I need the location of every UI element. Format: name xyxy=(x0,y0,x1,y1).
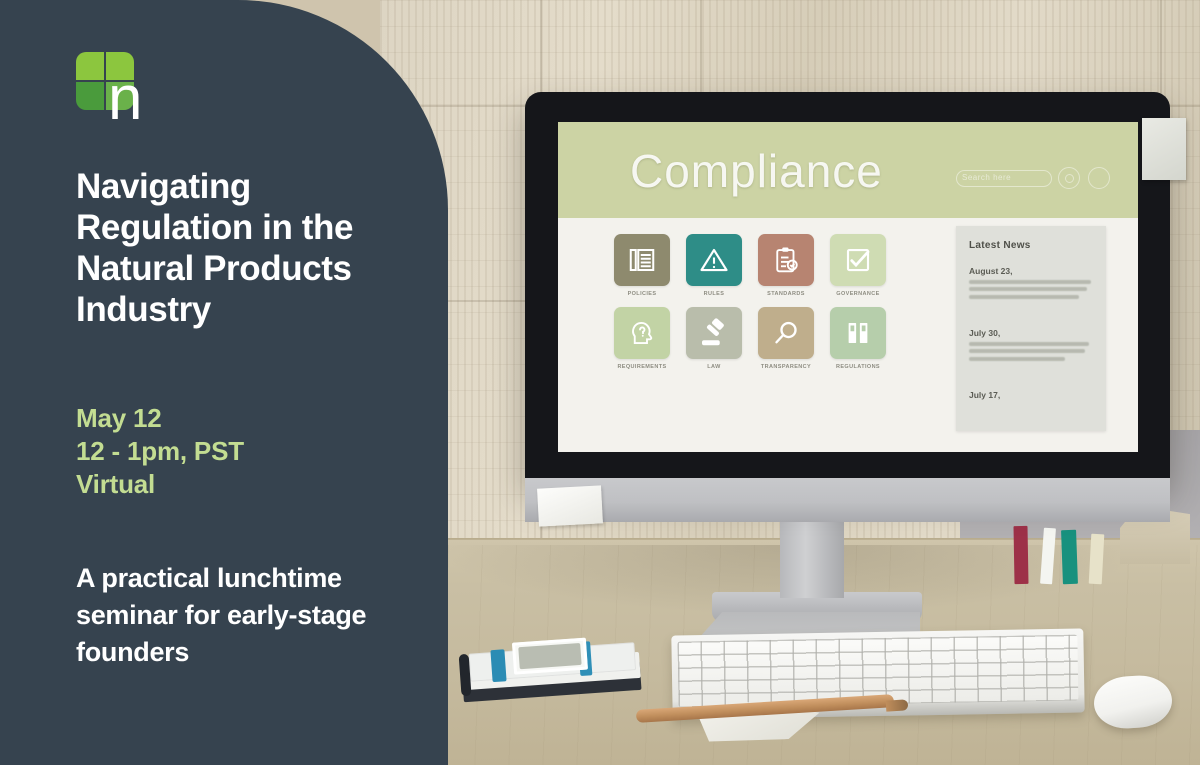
clipboard-check-icon xyxy=(771,245,801,275)
document-icon xyxy=(627,245,657,275)
leaf-icon xyxy=(76,52,104,80)
news-item[interactable]: July 17, xyxy=(969,390,1093,400)
tile-swatch xyxy=(686,234,742,286)
event-details: May 12 12 - 1pm, PST Virtual xyxy=(76,402,416,501)
news-date: August 23, xyxy=(969,266,1093,276)
tile-swatch xyxy=(686,307,742,359)
tile-governance[interactable]: GOVERNANCE xyxy=(830,234,886,297)
tile-requirements[interactable]: REQUIREMENTS xyxy=(614,307,670,370)
tile-swatch xyxy=(830,234,886,286)
tile-swatch xyxy=(758,234,814,286)
tile-regulations[interactable]: REGULATIONS xyxy=(830,307,886,370)
news-panel-title: Latest News xyxy=(969,240,1031,251)
mini-book xyxy=(1089,534,1105,585)
monitor-screen: Compliance Search here xyxy=(558,122,1138,452)
screen-title: Compliance xyxy=(630,144,883,198)
tile-label: REQUIREMENTS xyxy=(614,364,670,370)
monitor-neck xyxy=(780,520,844,598)
event-description: A practical lunchtime seminar for early-… xyxy=(76,560,436,671)
tile-label: STANDARDS xyxy=(758,291,814,297)
tile-law[interactable]: LAW xyxy=(686,307,742,370)
screen-body: POLICIES RULES xyxy=(558,218,1138,452)
tile-label: RULES xyxy=(686,291,742,297)
tile-label: REGULATIONS xyxy=(830,364,886,370)
notebook-band xyxy=(490,649,506,682)
clock-icon[interactable] xyxy=(1088,167,1110,189)
tile-label: LAW xyxy=(686,364,742,370)
compliance-tile-grid: POLICIES RULES xyxy=(614,234,934,380)
sticky-note-icon xyxy=(537,485,603,526)
brand-logo[interactable]: n xyxy=(76,52,146,118)
news-item[interactable]: July 30, xyxy=(969,328,1093,361)
mini-book xyxy=(1040,528,1056,585)
head-question-icon xyxy=(627,318,657,348)
page-title: Navigating Regulation in the Natural Pro… xyxy=(76,166,428,330)
tile-policies[interactable]: POLICIES xyxy=(614,234,670,297)
tile-row: POLICIES RULES xyxy=(614,234,934,297)
tile-swatch xyxy=(614,234,670,286)
notebook-stack xyxy=(460,630,644,712)
tile-row: REQUIREMENTS LAW xyxy=(614,307,934,370)
event-location: Virtual xyxy=(76,468,416,501)
event-date: May 12 xyxy=(76,402,416,435)
news-date: July 17, xyxy=(969,390,1093,400)
tile-rules[interactable]: RULES xyxy=(686,234,742,297)
event-poster: Compliance Search here xyxy=(0,0,1200,765)
leaf-icon xyxy=(76,82,104,110)
news-item[interactable]: August 23, xyxy=(969,266,1093,299)
screen-header: Compliance Search here xyxy=(558,122,1138,218)
magnifier-icon xyxy=(771,318,801,348)
news-date: July 30, xyxy=(969,328,1093,338)
monitor-chin xyxy=(525,478,1170,522)
tile-label: TRANSPARENCY xyxy=(758,364,814,370)
mini-book xyxy=(1061,530,1078,584)
target-icon-center xyxy=(1065,174,1074,183)
warning-triangle-icon xyxy=(699,245,729,275)
tile-label: GOVERNANCE xyxy=(830,291,886,297)
notebook-top-inner xyxy=(518,643,581,669)
tile-transparency[interactable]: TRANSPARENCY xyxy=(758,307,814,370)
tile-standards[interactable]: STANDARDS xyxy=(758,234,814,297)
news-body xyxy=(969,280,1093,299)
binders-icon xyxy=(843,318,873,348)
gavel-icon xyxy=(699,318,729,348)
latest-news-panel: Latest News August 23, July 30, xyxy=(956,226,1106,431)
mini-book xyxy=(1013,526,1028,584)
wooden-pen-tip xyxy=(886,699,909,711)
logo-letter: n xyxy=(108,68,142,130)
tile-swatch xyxy=(830,307,886,359)
event-time: 12 - 1pm, PST xyxy=(76,435,416,468)
search-placeholder: Search here xyxy=(962,173,1011,182)
news-body xyxy=(969,342,1093,361)
tile-swatch xyxy=(614,307,670,359)
target-icon[interactable] xyxy=(1058,167,1080,189)
checkbox-check-icon xyxy=(843,245,873,275)
tile-swatch xyxy=(758,307,814,359)
sticky-note-icon xyxy=(1142,118,1186,180)
tile-label: POLICIES xyxy=(614,291,670,297)
mini-books xyxy=(1014,522,1134,584)
